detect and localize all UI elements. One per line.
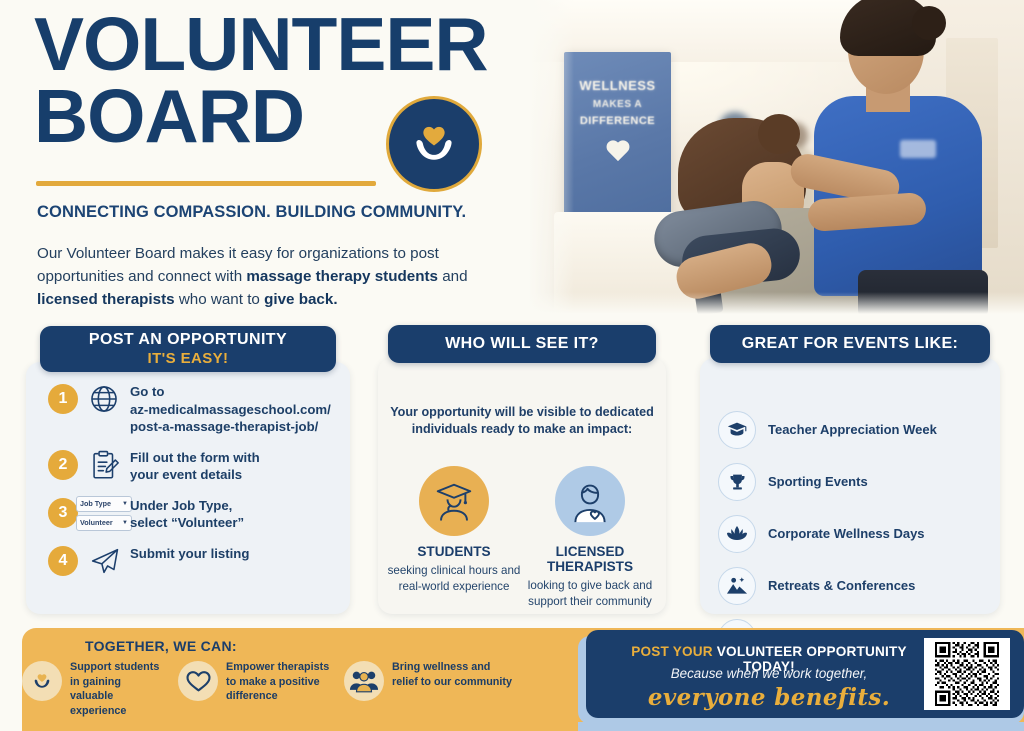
lead-part-1: Your opportunity will be visible to [390,405,595,419]
together-items: Support students in gaining valuable exp… [22,660,582,718]
cta-panel: POST YOUR VOLUNTEER OPPORTUNITY TODAY! B… [586,630,1024,718]
together-item-text: Bring wellness and relief to our communi… [392,660,518,689]
page-subtitle: CONNECTING COMPASSION. BUILDING COMMUNIT… [37,203,466,222]
wellness-banner: WELLNESS MAKES A DIFFERENCE [564,52,671,227]
step-text-line: Submit your listing [130,545,249,563]
step-number: 3 [48,498,78,528]
hero-photo: WELLNESS MAKES A DIFFERENCE [528,0,1024,314]
gold-divider [36,181,376,186]
list-item: Teacher Appreciation Week [700,404,1000,456]
therapist-avatar-icon [555,466,625,536]
volunteer-select-value: Volunteer [80,518,113,527]
list-item: Bring wellness and relief to our communi… [344,660,518,718]
event-label: Sporting Events [768,474,868,490]
list-item: Retreats & Conferences [700,560,1000,612]
heart-outline-icon [178,661,218,701]
great-for-events-card: Teacher Appreciation Week Sporting Event… [700,358,1000,614]
together-item-text: Support students in gaining valuable exp… [70,660,164,718]
event-label: Corporate Wellness Days [768,526,925,542]
hands-heart-icon [386,96,482,192]
step-item: 2 Fill out the form with your event deta… [26,442,350,490]
qr-code-icon[interactable] [924,638,1010,710]
card1-heading-line2: IT'S EASY! [148,350,229,367]
step-text: Under Job Type, select “Volunteer” [130,496,244,532]
cta-script-line: everyone benefits. [604,684,934,711]
list-item: Empower therapists to make a positive di… [178,660,330,718]
cta-subline: Because when we work together, [604,666,934,681]
banner-line-1: WELLNESS [564,78,671,95]
mountains-icon [718,567,756,605]
intro-bold-3: give back. [264,291,337,308]
audience-therapists: LICENSED THERAPISTS looking to give back… [522,466,658,610]
step-item: 3 Job Type ▼ Volunteer ▼ Under Jo [26,490,350,538]
step-number: 1 [48,384,78,414]
step-text-plain: select [130,515,171,530]
step-text: Go to az-medicalmassageschool.com/ post-… [130,382,331,436]
banner-line-3: DIFFERENCE [564,114,671,128]
lotus-icon [718,515,756,553]
cta-headline-gold: POST YOUR [631,644,713,659]
who-will-see-it-card-header: WHO WILL SEE IT? [388,325,656,363]
post-opportunity-card-header: POST AN OPPORTUNITY IT'S EASY! [40,326,336,372]
intro-part-2: and [438,268,468,285]
chevron-down-icon: ▼ [122,520,128,526]
step-text: Fill out the form with your event detail… [130,448,260,484]
step-text: Submit your listing [130,544,249,563]
step-text-line: Go to [130,383,331,401]
post-opportunity-card: 1 Go to az-medicalmassageschool.com/ pos… [26,362,350,614]
job-type-dropdown-icon: Job Type ▼ Volunteer ▼ [78,496,130,531]
therapists-title-line2: THERAPISTS [522,559,658,574]
event-label: Retreats & Conferences [768,578,915,594]
graduation-cap-icon [718,411,756,449]
step-text-line: select “Volunteer” [130,514,244,532]
step-text-line: post-a-massage-therapist-job/ [130,418,331,436]
graduate-avatar-icon [419,466,489,536]
intro-part-3: who want to [175,291,265,308]
events-list: Teacher Appreciation Week Sporting Event… [700,404,1000,664]
therapists-description: looking to give back and support their c… [522,578,658,609]
people-group-icon [344,661,384,701]
step-item: 1 Go to az-medicalmassageschool.com/ pos… [26,376,350,442]
therapists-title: LICENSED THERAPISTS [522,544,658,574]
step-text-line: az-medicalmassageschool.com/ [130,401,331,419]
paper-plane-icon [78,544,130,578]
students-description: seeking clinical hours and real-world ex… [386,563,522,594]
list-item: Sporting Events [700,456,1000,508]
audience-students: STUDENTS seeking clinical hours and real… [386,466,522,610]
lead-part-2: individuals ready to make an impact: [412,422,632,436]
together-item-text: Empower therapists to make a positive di… [226,660,330,704]
intro-paragraph: Our Volunteer Board makes it easy for or… [37,242,507,311]
globe-icon [78,382,130,416]
list-item: Support students in gaining valuable exp… [22,660,164,718]
banner-line-2: MAKES A [564,99,671,112]
chevron-down-icon: ▼ [122,501,128,507]
audience-lead-text: Your opportunity will be visible to dedi… [388,404,656,439]
hands-heart-icon [22,661,62,701]
who-will-see-it-card: Your opportunity will be visible to dedi… [378,358,666,614]
trophy-icon [718,463,756,501]
step-text-bold: “Volunteer” [171,515,244,530]
lead-bold: dedicated [595,405,654,419]
step-number: 4 [48,546,78,576]
event-label: Teacher Appreciation Week [768,422,937,438]
infographic-page: WELLNESS MAKES A DIFFERENCE [0,0,1024,731]
job-type-select-label: Job Type [80,499,111,508]
card3-heading: GREAT FOR EVENTS LIKE: [742,335,959,353]
banner-heart-icon [605,141,631,165]
card2-heading: WHO WILL SEE IT? [445,335,599,353]
intro-bold-2: licensed therapists [37,291,175,308]
volunteer-select[interactable]: Volunteer ▼ [76,515,132,531]
step-text-line: your event details [130,466,260,484]
job-type-select[interactable]: Job Type ▼ [76,496,132,512]
steps-list: 1 Go to az-medicalmassageschool.com/ pos… [26,376,350,584]
step-item: 4 Submit your listing [26,538,350,584]
intro-bold-1: massage therapy students [246,268,438,285]
bottom-blue-strip [578,722,1024,731]
clipboard-pencil-icon [78,448,130,482]
step-text-line: Under Job Type, [130,497,244,515]
great-for-events-card-header: GREAT FOR EVENTS LIKE: [710,325,990,363]
step-text-line: Fill out the form with [130,449,260,467]
card1-heading-line1: POST AN OPPORTUNITY [89,331,287,349]
together-title: TOGETHER, WE CAN: [85,638,237,654]
students-title: STUDENTS [386,544,522,559]
therapists-title-line1: LICENSED [522,544,658,559]
step-number: 2 [48,450,78,480]
list-item: Corporate Wellness Days [700,508,1000,560]
